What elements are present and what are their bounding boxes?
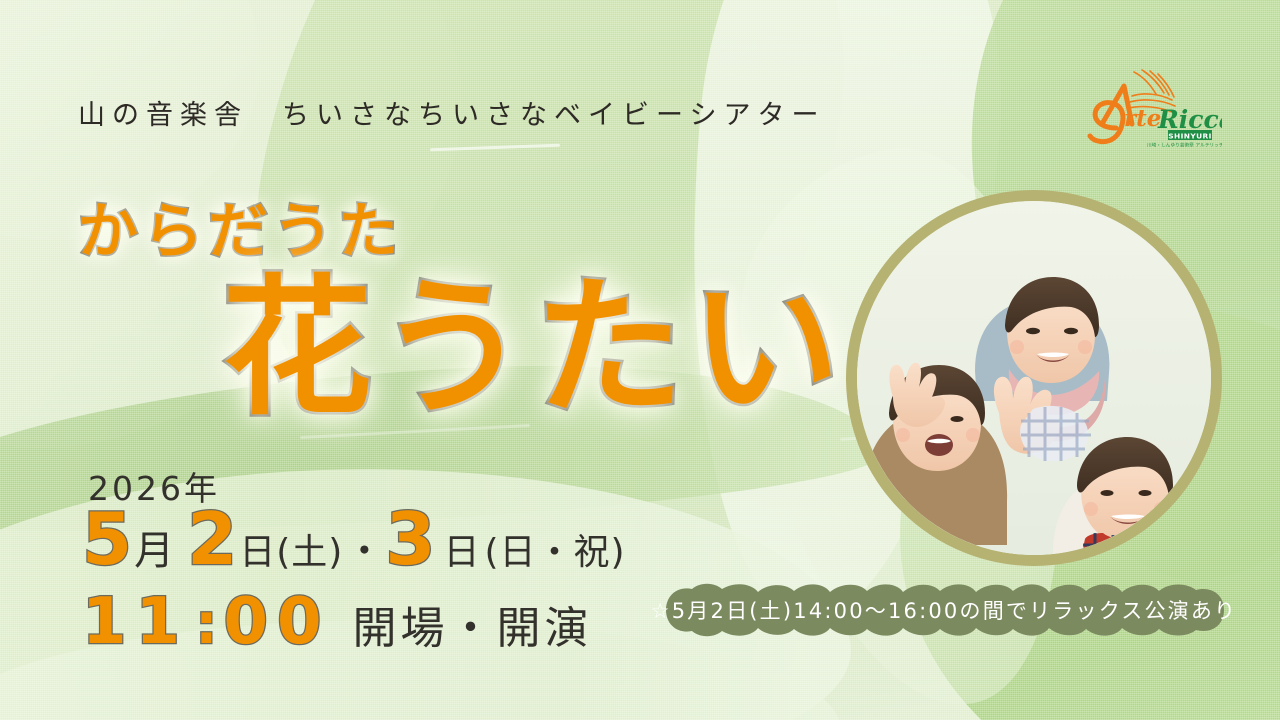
- page-title: 花うたい: [222, 268, 846, 430]
- tagline: 山の音楽舎 ちいさなちいさなベイビーシアター: [78, 93, 825, 132]
- time-minute: 00: [223, 590, 330, 654]
- svg-text:rte: rte: [1124, 105, 1161, 132]
- time-line: 11 : 00 開場・開演: [82, 590, 593, 654]
- date-day2-weekday: (日・祝): [484, 535, 625, 571]
- date-separator: ・: [345, 532, 383, 570]
- photo-ring-border: [846, 190, 1222, 566]
- brush-stroke-1: [430, 144, 560, 152]
- svg-text:SHINYURI: SHINYURI: [1168, 132, 1211, 141]
- subtitle: からだうた: [78, 183, 403, 270]
- time-hour: 11: [82, 590, 189, 654]
- time-event-label: 開場・開演: [353, 607, 593, 651]
- date-line: 5 月 2 日 (土) ・ 3 日 (日・祝): [82, 503, 626, 575]
- poster-canvas: 山の音楽舎 ちいさなちいさなベイビーシアター rte Ricca SHINYUR…: [0, 0, 1280, 720]
- date-day2-unit: 日: [443, 535, 480, 571]
- time-colon: :: [195, 597, 217, 653]
- arte-ricca-logo[interactable]: rte Ricca SHINYURI 川崎・しんゆり芸術祭 アルテリッチしんゆり: [1072, 62, 1222, 148]
- relax-performance-text: ☆5月2日(土)14:00〜16:00の間でリラックス公演あり: [640, 583, 1248, 637]
- relax-performance-banner: ☆5月2日(土)14:00〜16:00の間でリラックス公演あり: [640, 583, 1248, 637]
- photo-circle: [846, 190, 1222, 566]
- date-day1-unit: 日: [239, 535, 276, 571]
- svg-text:Ricca: Ricca: [1157, 105, 1222, 134]
- svg-text:川崎・しんゆり芸術祭 アルテリッチしんゆり: 川崎・しんゆり芸術祭 アルテリッチしんゆり: [1147, 142, 1222, 149]
- babies-photo: [857, 201, 1211, 555]
- date-month-number: 5: [82, 503, 134, 575]
- date-day1-number: 2: [187, 503, 239, 575]
- date-day1-weekday: (土): [276, 535, 343, 571]
- date-month-unit: 月: [134, 531, 175, 571]
- date-day2-number: 3: [385, 503, 437, 575]
